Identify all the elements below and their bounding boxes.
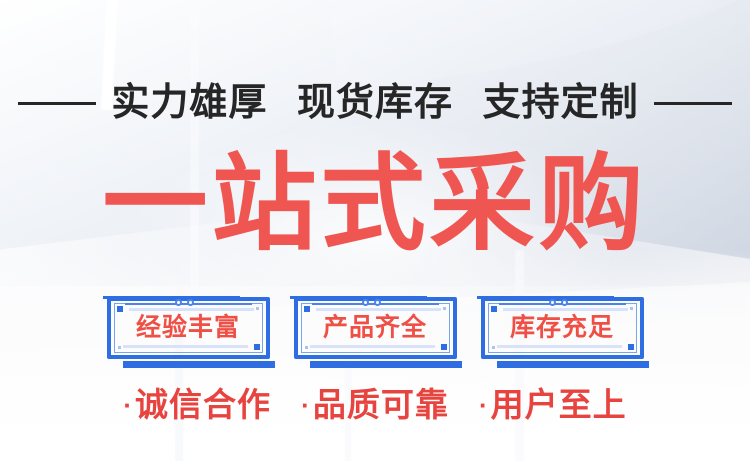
slogan-label-1: 诚信合作 [135, 386, 271, 423]
slogan-item-3: ·用户至上 [479, 386, 627, 423]
badge-under-bar [123, 361, 275, 368]
slogan-bullet-icon: · [301, 390, 311, 420]
promo-banner: 实力雄厚 现货库存 支持定制 一站式采购 [0, 0, 750, 461]
slogan-bullet-icon: · [479, 390, 489, 420]
badge-rail-top [316, 308, 441, 311]
badge-label: 库存充足 [481, 316, 644, 341]
badge-circle-node-2 [561, 299, 568, 306]
badge-rail-bottom [497, 345, 622, 348]
badge-dot-top-right [630, 307, 633, 310]
badge-item[interactable]: 产品齐全 [294, 297, 457, 359]
badge-dot-bottom-left [492, 346, 495, 349]
badge-rail-top [503, 308, 628, 311]
badge-circle-node-1 [175, 299, 182, 306]
badge-square-bottom-right [254, 344, 260, 350]
badge-label: 经验丰富 [107, 316, 270, 341]
badge-item[interactable]: 库存充足 [481, 297, 644, 359]
badge-dot-top-right [256, 307, 259, 310]
kicker-segment-1: 实力雄厚 [111, 82, 267, 124]
kicker-text: 实力雄厚 现货库存 支持定制 [102, 84, 647, 122]
badge-circle-node-2 [374, 299, 381, 306]
badge-row: 经验丰富 产品齐全 [0, 297, 750, 359]
kicker-segment-2: 现货库存 [297, 82, 453, 124]
badge-dot-bottom-left [118, 346, 121, 349]
slogan-item-2: ·品质可靠 [301, 386, 449, 423]
badge-circle-node-1 [549, 299, 556, 306]
badge-square-top-left [491, 306, 497, 312]
slogan-bullet-icon: · [123, 390, 133, 420]
banner-content: 实力雄厚 现货库存 支持定制 一站式采购 [0, 0, 750, 461]
slogan-row: ·诚信合作 ·品质可靠 ·用户至上 [0, 388, 750, 421]
badge-circle-node-2 [187, 299, 194, 306]
badge-top-bar [290, 296, 427, 299]
badge-dot-top-right [443, 307, 446, 310]
slogan-label-3: 用户至上 [491, 386, 627, 423]
badge-under-bar [497, 361, 649, 368]
badge-dot-bottom-left [305, 346, 308, 349]
badge-rail-bottom [310, 345, 435, 348]
headline: 一站式采购 [0, 152, 750, 257]
slogan-label-2: 品质可靠 [313, 386, 449, 423]
badge-square-top-left [117, 306, 123, 312]
badge-circle-node-1 [362, 299, 369, 306]
badge-rail-bottom [123, 345, 248, 348]
badge-item[interactable]: 经验丰富 [107, 297, 270, 359]
badge-top-bar [477, 296, 614, 299]
badge-label: 产品齐全 [294, 316, 457, 341]
slogan-item-1: ·诚信合作 [123, 386, 271, 423]
kicker-segment-3: 支持定制 [483, 82, 639, 124]
badge-square-bottom-right [441, 344, 447, 350]
badge-under-bar [310, 361, 462, 368]
kicker-rule-right [654, 102, 732, 105]
badge-rail-top [129, 308, 254, 311]
kicker-rule-left [18, 102, 96, 105]
badge-square-top-left [304, 306, 310, 312]
kicker-row: 实力雄厚 现货库存 支持定制 [0, 78, 750, 128]
badge-top-bar [103, 296, 240, 299]
badge-square-bottom-right [628, 344, 634, 350]
